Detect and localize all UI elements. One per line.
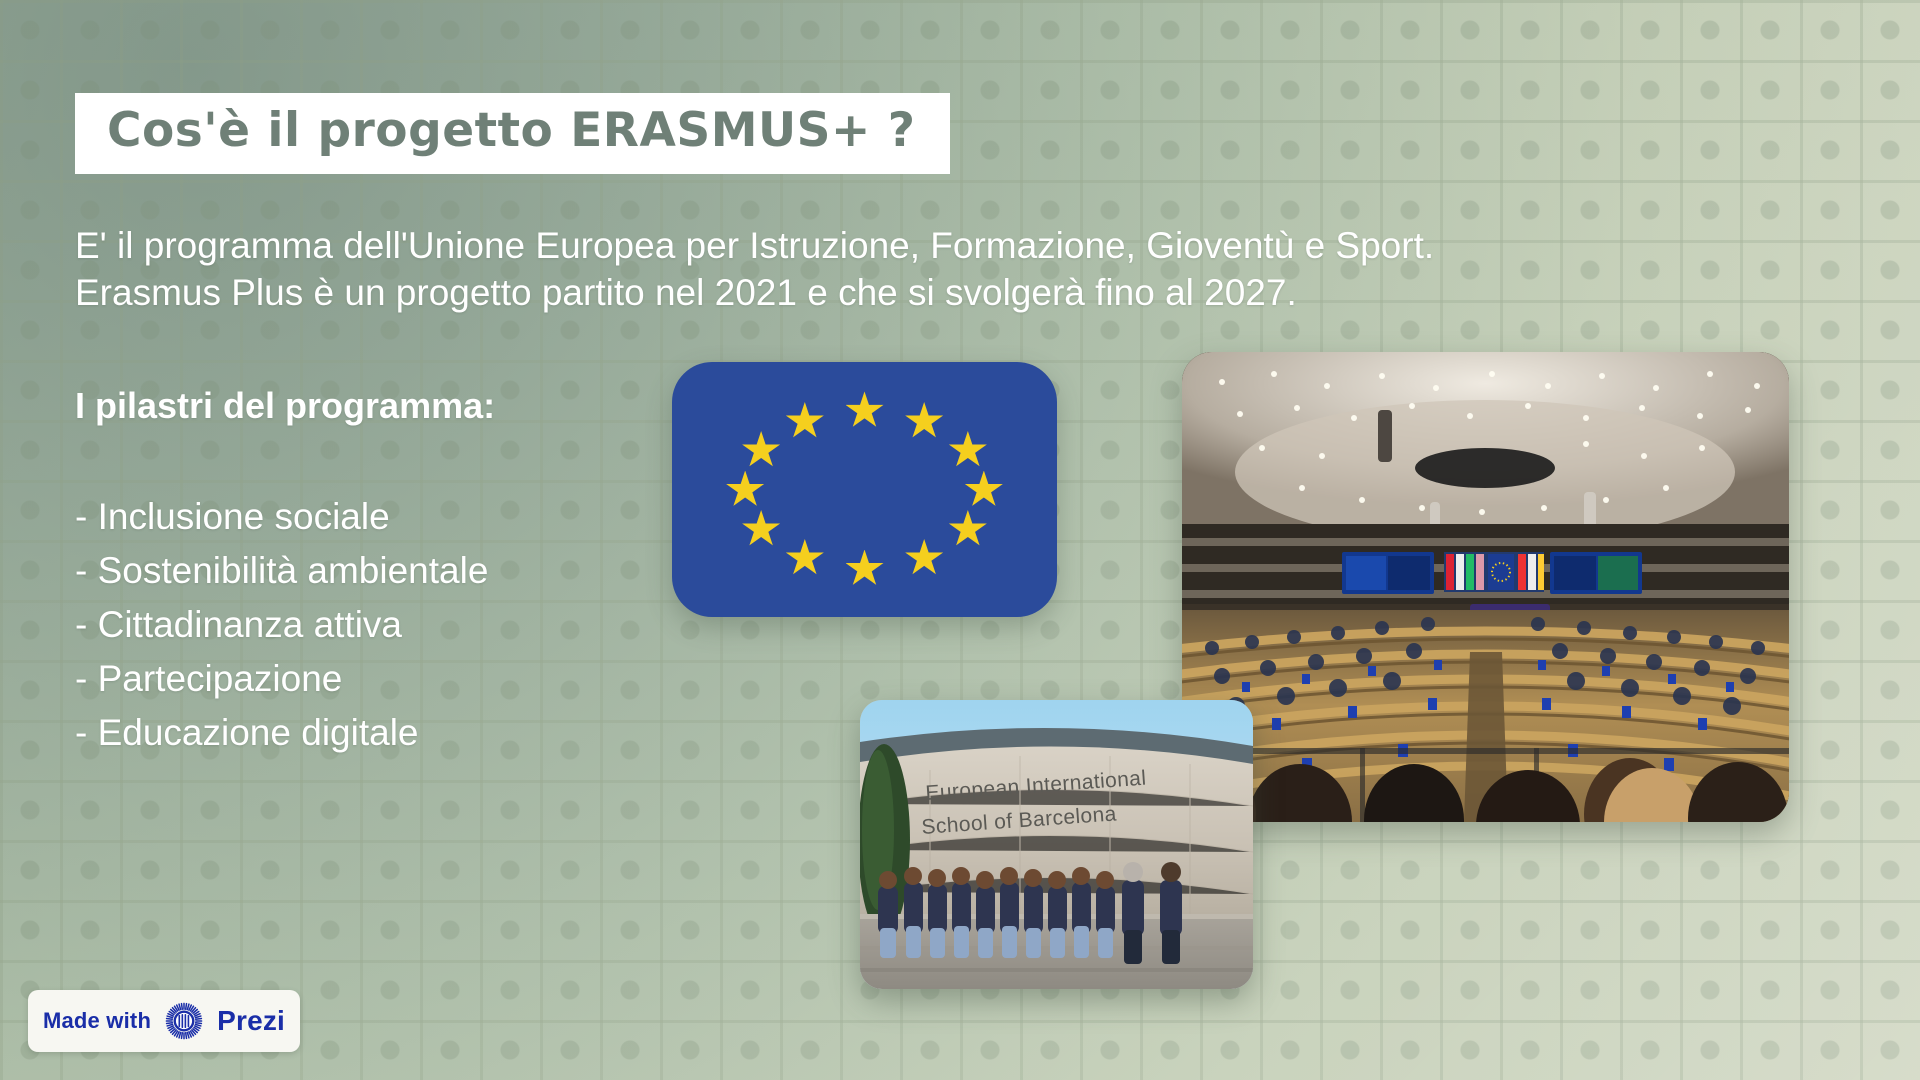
list-item: - Sostenibilità ambientale <box>75 544 488 598</box>
eu-star <box>949 510 987 548</box>
eu-star <box>965 471 1003 509</box>
prezi-logo-icon <box>165 1002 203 1040</box>
list-item: - Cittadinanza attiva <box>75 598 488 652</box>
intro-line-1: E' il programma dell'Unione Europea per … <box>75 222 1835 269</box>
eu-star <box>742 431 780 469</box>
pillars-list: - Inclusione sociale - Sostenibilità amb… <box>75 490 488 760</box>
list-item: - Educazione digitale <box>75 706 488 760</box>
presentation-slide: Cos'è il progetto ERASMUS+ ? E' il progr… <box>0 0 1920 1080</box>
european-union-flag-image <box>672 362 1057 617</box>
pillars-heading: I pilastri del programma: <box>75 385 495 427</box>
list-item: - Inclusione sociale <box>75 490 488 544</box>
eu-star <box>846 391 884 429</box>
eu-star <box>846 550 884 588</box>
eu-star <box>786 539 824 577</box>
list-item: - Partecipazione <box>75 652 488 706</box>
eu-star <box>905 402 943 440</box>
made-with-prezi-badge[interactable]: Made with Prezi <box>28 990 300 1052</box>
page-title: Cos'è il progetto ERASMUS+ ? <box>107 107 916 154</box>
eu-star <box>726 471 764 509</box>
slide-title-band: Cos'è il progetto ERASMUS+ ? <box>75 93 950 174</box>
eu-stars-circle <box>672 362 1057 617</box>
eu-star <box>949 431 987 469</box>
european-parliament-hemicycle-photo <box>1182 352 1789 822</box>
intro-paragraph: E' il programma dell'Unione Europea per … <box>75 222 1835 317</box>
school-group-photo: European International School of Barcelo… <box>860 700 1253 989</box>
eu-star <box>786 402 824 440</box>
school-illustration: European International School of Barcelo… <box>860 700 1253 989</box>
intro-line-2: Erasmus Plus è un progetto partito nel 2… <box>75 269 1835 316</box>
badge-brand-label: Prezi <box>217 1005 285 1037</box>
eu-star <box>905 539 943 577</box>
badge-made-with-label: Made with <box>43 1008 151 1034</box>
eu-star <box>742 510 780 548</box>
parliament-illustration <box>1182 352 1789 822</box>
